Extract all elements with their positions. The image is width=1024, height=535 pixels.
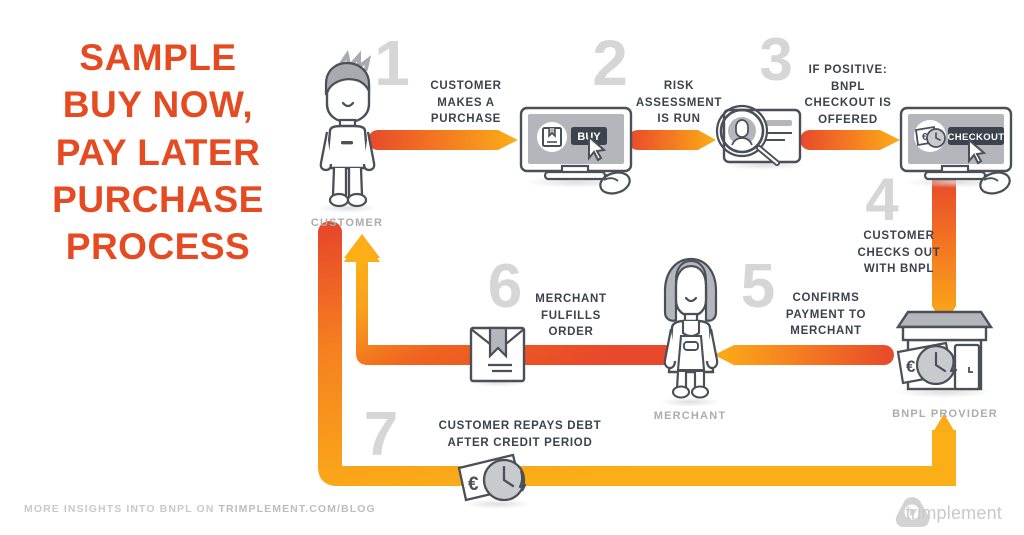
footer-link[interactable]: TRIMPLEMENT.COM/BLOG	[218, 503, 375, 515]
caption-line: IS RUN	[623, 111, 735, 128]
caption-line: RISK	[623, 78, 735, 95]
caption-line: AFTER CREDIT PERIOD	[410, 435, 630, 452]
title-line: PROCESS	[22, 223, 294, 270]
page-title: SAMPLE BUY NOW, PAY LATER PURCHASE PROCE…	[22, 34, 294, 271]
arrow-step-5	[714, 345, 894, 365]
arrow-step-3	[800, 130, 900, 150]
caption-line: CHECKOUT IS	[793, 95, 903, 112]
step-caption-1: CUSTOMER MAKES A PURCHASE	[406, 78, 526, 128]
caption-line: BNPL	[793, 79, 903, 96]
caption-line: MERCHANT	[521, 291, 621, 308]
monitor-checkout-icon: € CHECKOUT	[901, 108, 1012, 197]
monitor-buy-icon: BUY	[521, 108, 632, 197]
caption-line: PAYMENT TO	[772, 307, 880, 324]
step-number-6: 6	[488, 252, 522, 321]
caption-line: CUSTOMER REPAYS DEBT	[410, 418, 630, 435]
banknote-clock-icon: €	[459, 455, 532, 509]
step-caption-6: MERCHANT FULFILLS ORDER	[521, 291, 621, 341]
caption-line: ASSESSMENT	[623, 95, 735, 112]
caption-line: MERCHANT	[772, 323, 880, 340]
brand-logo: trimplement	[869, 498, 1002, 528]
step-number-5: 5	[741, 252, 775, 321]
caption-line: CHECKS OUT	[845, 245, 953, 262]
step-caption-3: IF POSITIVE: BNPL CHECKOUT IS OFFERED	[793, 62, 903, 129]
step-caption-7: CUSTOMER REPAYS DEBT AFTER CREDIT PERIOD	[410, 418, 630, 451]
shop-building-icon: €	[896, 312, 992, 398]
title-line: BUY NOW,	[22, 81, 294, 128]
arrow-step-1	[368, 130, 518, 150]
actor-label-merchant: MERCHANT	[640, 410, 740, 422]
step-caption-4: CUSTOMER CHECKS OUT WITH BNPL	[845, 228, 953, 278]
infographic-canvas: BUY	[0, 0, 1024, 535]
step-number-1: 1	[374, 27, 410, 99]
title-line: PAY LATER	[22, 129, 294, 176]
person-male-icon	[317, 55, 377, 213]
footer-prefix: MORE INSIGHTS INTO BNPL ON	[24, 503, 214, 515]
brand-name: trimplement	[906, 503, 1002, 524]
person-female-apron-icon	[660, 259, 720, 407]
title-line: PURCHASE	[22, 176, 294, 223]
caption-line: CONFIRMS	[772, 290, 880, 307]
caption-line: IF POSITIVE:	[793, 62, 903, 79]
euro-symbol: €	[468, 474, 479, 495]
caption-line: CUSTOMER	[845, 228, 953, 245]
actor-label-bnpl-provider: BNPL PROVIDER	[880, 408, 1010, 420]
caption-line: OFFERED	[793, 112, 903, 129]
caption-line: CUSTOMER	[406, 78, 526, 95]
package-box-icon	[468, 328, 528, 387]
step-caption-5: CONFIRMS PAYMENT TO MERCHANT	[772, 290, 880, 340]
caption-line: PURCHASE	[406, 111, 526, 128]
actor-label-customer: CUSTOMER	[297, 217, 397, 229]
caption-line: ORDER	[521, 324, 621, 341]
title-line: SAMPLE	[22, 34, 294, 81]
checkout-button-label: CHECKOUT	[947, 132, 1004, 143]
step-number-7: 7	[364, 400, 398, 469]
arrow-step-2	[628, 130, 716, 150]
logo-mark-placeholder	[869, 498, 899, 528]
step-caption-2: RISK ASSESSMENT IS RUN	[623, 78, 735, 128]
step-number-3: 3	[759, 26, 792, 93]
euro-symbol: €	[906, 357, 916, 376]
footer-credit: MORE INSIGHTS INTO BNPL ON TRIMPLEMENT.C…	[24, 503, 376, 515]
caption-line: MAKES A	[406, 95, 526, 112]
step-number-4: 4	[865, 166, 899, 233]
caption-line: FULFILLS	[521, 308, 621, 325]
caption-line: WITH BNPL	[845, 261, 953, 278]
